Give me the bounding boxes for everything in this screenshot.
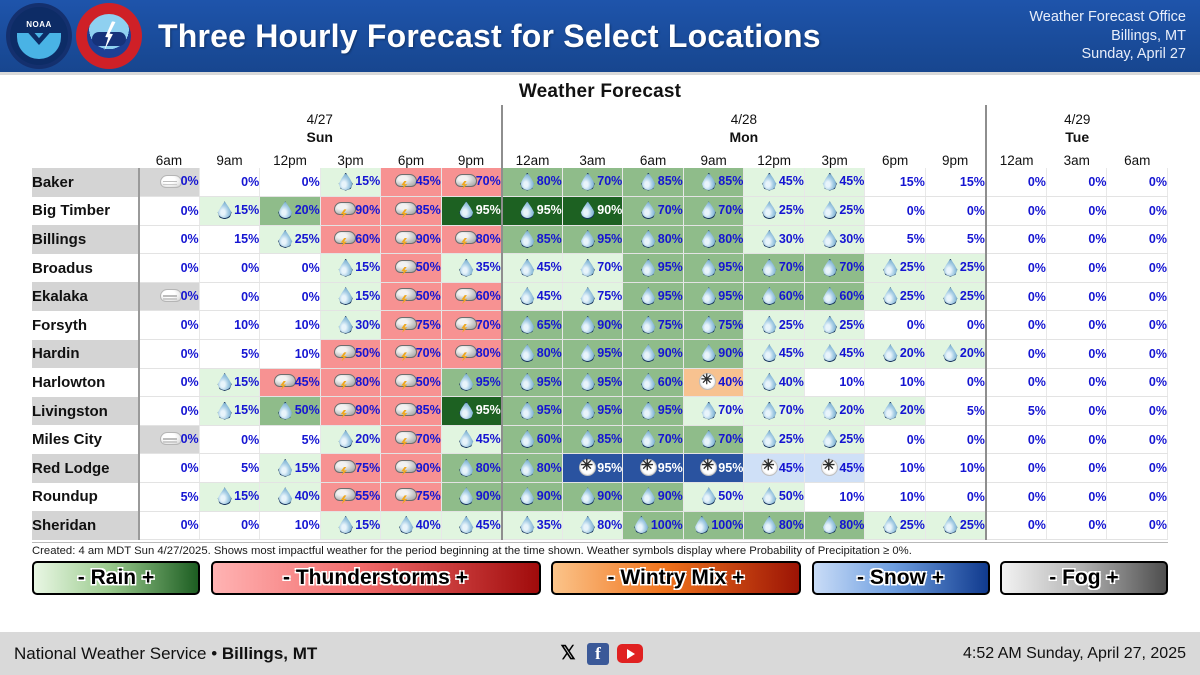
forecast-cell: 45% bbox=[381, 168, 442, 197]
precip-probability: 95% bbox=[718, 461, 743, 475]
forecast-cell: 60% bbox=[502, 425, 563, 454]
precip-probability: 0% bbox=[181, 375, 199, 389]
location-label: Sheridan bbox=[32, 511, 139, 540]
forecast-cell: 0% bbox=[925, 368, 986, 397]
rain-icon bbox=[274, 402, 294, 419]
forecast-cell: 85% bbox=[381, 197, 442, 226]
precip-probability: 0% bbox=[1149, 175, 1167, 189]
precip-probability: 85% bbox=[416, 403, 441, 417]
precip-probability: 75% bbox=[355, 461, 380, 475]
precip-probability: 50% bbox=[718, 489, 743, 503]
precip-probability: 45% bbox=[295, 375, 320, 389]
forecast-cell: 25% bbox=[865, 254, 926, 283]
table-row: Red Lodge0%5%15%75%90%80%80%95%95%95%45%… bbox=[32, 454, 1168, 483]
rain-icon bbox=[818, 287, 838, 304]
precip-probability: 95% bbox=[658, 461, 683, 475]
rain-icon bbox=[758, 316, 778, 333]
location-label: Baker bbox=[32, 168, 139, 197]
rain-icon bbox=[274, 201, 294, 218]
forecast-cell: 0% bbox=[986, 282, 1047, 311]
precip-probability: 20% bbox=[960, 346, 985, 360]
precip-probability: 80% bbox=[597, 518, 622, 532]
forecast-cell: 25% bbox=[744, 425, 805, 454]
precip-probability: 90% bbox=[597, 489, 622, 503]
precip-probability: 25% bbox=[839, 432, 864, 446]
snow-icon bbox=[758, 459, 778, 476]
precip-probability: 95% bbox=[597, 403, 622, 417]
forecast-cell: 0% bbox=[1107, 311, 1168, 340]
precip-probability: 0% bbox=[1028, 232, 1046, 246]
rain-icon bbox=[939, 259, 959, 276]
forecast-cell: 0% bbox=[1107, 397, 1168, 426]
date-header-row: 4/274/284/29 bbox=[32, 105, 1168, 127]
precip-probability: 40% bbox=[718, 375, 743, 389]
location-label: Big Timber bbox=[32, 197, 139, 226]
forecast-note: Created: 4 am MDT Sun 4/27/2025. Shows m… bbox=[32, 542, 1168, 557]
forecast-cell: 45% bbox=[441, 511, 502, 540]
rain-icon bbox=[334, 287, 354, 304]
precip-probability: 85% bbox=[658, 174, 683, 188]
rain-icon bbox=[637, 487, 657, 504]
forecast-cell: 0% bbox=[1046, 425, 1107, 454]
precip-probability: 0% bbox=[1088, 433, 1106, 447]
precip-probability: 90% bbox=[718, 346, 743, 360]
rain-icon bbox=[516, 287, 536, 304]
hour-label: 9am bbox=[683, 147, 744, 168]
forecast-cell: 85% bbox=[623, 168, 684, 197]
forecast-cell: 0% bbox=[986, 483, 1047, 512]
forecast-cell: 0% bbox=[986, 511, 1047, 540]
hour-label: 6am bbox=[1107, 147, 1168, 168]
rain-icon bbox=[637, 287, 657, 304]
hour-label: 6pm bbox=[381, 147, 442, 168]
tstorm-icon bbox=[395, 459, 415, 476]
table-row: Livingston0%15%50%90%85%95%95%95%95%70%7… bbox=[32, 397, 1168, 426]
tstorm-icon bbox=[395, 487, 415, 504]
precip-probability: 0% bbox=[1088, 318, 1106, 332]
forecast-cell: 0% bbox=[139, 311, 200, 340]
precip-probability: 50% bbox=[416, 289, 441, 303]
forecast-cell: 0% bbox=[986, 454, 1047, 483]
rain-icon bbox=[818, 173, 838, 190]
hour-label: 3pm bbox=[320, 147, 381, 168]
forecast-cell: 0% bbox=[199, 282, 260, 311]
rain-icon bbox=[455, 459, 475, 476]
precip-probability: 15% bbox=[234, 232, 259, 246]
precip-probability: 15% bbox=[234, 203, 259, 217]
location-label: Red Lodge bbox=[32, 454, 139, 483]
rain-icon bbox=[576, 430, 596, 447]
precip-probability: 0% bbox=[181, 318, 199, 332]
rain-icon bbox=[516, 316, 536, 333]
forecast-cell: 95% bbox=[623, 397, 684, 426]
forecast-cell: 25% bbox=[925, 254, 986, 283]
rain-icon bbox=[758, 402, 778, 419]
rain-icon bbox=[697, 316, 717, 333]
rain-icon bbox=[637, 173, 657, 190]
precip-probability: 35% bbox=[537, 518, 562, 532]
tstorm-icon bbox=[334, 402, 354, 419]
date-label: 4/28 bbox=[502, 105, 986, 127]
forecast-cell: 5% bbox=[925, 397, 986, 426]
legend-item-thunderstorms[interactable]: - Thunderstorms + bbox=[211, 561, 541, 595]
tstorm-icon bbox=[395, 373, 415, 390]
forecast-cell: 0% bbox=[1046, 311, 1107, 340]
rain-icon bbox=[637, 316, 657, 333]
forecast-cell: 0% bbox=[1046, 454, 1107, 483]
table-row: Harlowton0%15%45%80%50%95%95%95%60%40%40… bbox=[32, 368, 1168, 397]
forecast-cell: 10% bbox=[865, 483, 926, 512]
forecast-cell: 15% bbox=[320, 168, 381, 197]
location-label: Ekalaka bbox=[32, 282, 139, 311]
forecast-cell: 80% bbox=[441, 340, 502, 369]
precip-probability: 0% bbox=[1028, 347, 1046, 361]
forecast-cell: 0% bbox=[986, 168, 1047, 197]
forecast-cell: 95% bbox=[502, 368, 563, 397]
precip-probability: 10% bbox=[234, 318, 259, 332]
forecast-cell: 25% bbox=[804, 311, 865, 340]
precip-probability: 70% bbox=[718, 432, 743, 446]
forecast-cell: 15% bbox=[260, 454, 321, 483]
rain-icon bbox=[576, 316, 596, 333]
precip-probability: 85% bbox=[416, 203, 441, 217]
rain-icon bbox=[455, 487, 475, 504]
forecast-cell: 0% bbox=[1046, 282, 1107, 311]
forecast-cell: 80% bbox=[502, 454, 563, 483]
forecast-cell: 25% bbox=[865, 282, 926, 311]
forecast-cell: 25% bbox=[925, 282, 986, 311]
table-row: Billings0%15%25%60%90%80%85%95%80%80%30%… bbox=[32, 225, 1168, 254]
table-row: Hardin0%5%10%50%70%80%80%95%90%90%45%45%… bbox=[32, 340, 1168, 369]
forecast-cell: 95% bbox=[502, 197, 563, 226]
snow-icon bbox=[576, 459, 596, 476]
rain-icon bbox=[758, 201, 778, 218]
precip-probability: 10% bbox=[839, 375, 864, 389]
forecast-cell: 15% bbox=[320, 254, 381, 283]
forecast-cell: 10% bbox=[260, 311, 321, 340]
nws-logo-icon bbox=[76, 3, 142, 69]
forecast-cell: 70% bbox=[744, 397, 805, 426]
forecast-cell: 80% bbox=[562, 511, 623, 540]
rain-icon bbox=[758, 230, 778, 247]
precip-probability: 0% bbox=[967, 433, 985, 447]
precip-probability: 0% bbox=[1028, 204, 1046, 218]
rain-icon bbox=[630, 516, 650, 533]
precip-probability: 85% bbox=[718, 174, 743, 188]
precip-probability: 70% bbox=[597, 260, 622, 274]
forecast-cell: 30% bbox=[804, 225, 865, 254]
tstorm-icon bbox=[455, 230, 475, 247]
precip-probability: 70% bbox=[718, 203, 743, 217]
forecast-cell: 0% bbox=[139, 197, 200, 226]
rain-icon bbox=[213, 487, 233, 504]
hour-label: 6pm bbox=[865, 147, 926, 168]
precip-probability: 25% bbox=[960, 518, 985, 532]
forecast-cell: 70% bbox=[623, 197, 684, 226]
precip-probability: 45% bbox=[476, 518, 501, 532]
rain-icon bbox=[758, 373, 778, 390]
rain-icon bbox=[395, 516, 415, 533]
rain-icon bbox=[334, 259, 354, 276]
day-label: Mon bbox=[502, 127, 986, 147]
forecast-cell: 75% bbox=[683, 311, 744, 340]
forecast-cell: 95% bbox=[562, 340, 623, 369]
precip-probability: 0% bbox=[302, 175, 320, 189]
footer-timestamp: 4:52 AM Sunday, April 27, 2025 bbox=[963, 645, 1186, 663]
rain-icon bbox=[213, 373, 233, 390]
precip-probability: 0% bbox=[241, 518, 259, 532]
rain-icon bbox=[879, 402, 899, 419]
rain-icon bbox=[516, 430, 536, 447]
precip-probability: 0% bbox=[241, 433, 259, 447]
forecast-cell: 90% bbox=[320, 197, 381, 226]
forecast-cell: 20% bbox=[320, 425, 381, 454]
precip-probability: 0% bbox=[241, 261, 259, 275]
forecast-cell: 0% bbox=[986, 425, 1047, 454]
precip-probability: 90% bbox=[658, 346, 683, 360]
rain-icon bbox=[516, 230, 536, 247]
rain-icon bbox=[697, 344, 717, 361]
forecast-cell: 75% bbox=[562, 282, 623, 311]
precip-probability: 80% bbox=[718, 232, 743, 246]
precip-probability: 15% bbox=[355, 289, 380, 303]
table-row: Big Timber0%15%20%90%85%95%95%90%70%70%2… bbox=[32, 197, 1168, 226]
hour-label: 12pm bbox=[260, 147, 321, 168]
location-label: Billings bbox=[32, 225, 139, 254]
table-row: Sheridan0%0%10%15%40%45%35%80%100%100%80… bbox=[32, 511, 1168, 540]
forecast-cell: 75% bbox=[623, 311, 684, 340]
forecast-cell: 90% bbox=[381, 225, 442, 254]
forecast-cell: 45% bbox=[804, 340, 865, 369]
precip-probability: 0% bbox=[1028, 290, 1046, 304]
forecast-cell: 0% bbox=[1046, 483, 1107, 512]
forecast-cell: 95% bbox=[441, 368, 502, 397]
tstorm-icon bbox=[455, 344, 475, 361]
precip-probability: 95% bbox=[597, 346, 622, 360]
precip-probability: 0% bbox=[1028, 318, 1046, 332]
rain-icon bbox=[274, 459, 294, 476]
tstorm-icon bbox=[395, 430, 415, 447]
forecast-cell: 15% bbox=[320, 511, 381, 540]
forecast-cell: 0% bbox=[1046, 340, 1107, 369]
hour-header-row: 6am9am12pm3pm6pm9pm12am3am6am9am12pm3pm6… bbox=[32, 147, 1168, 168]
rain-icon bbox=[576, 402, 596, 419]
precip-probability: 40% bbox=[295, 489, 320, 503]
forecast-cell: 0% bbox=[925, 425, 986, 454]
forecast-cell: 20% bbox=[925, 340, 986, 369]
forecast-cell: 80% bbox=[441, 454, 502, 483]
forecast-cell: 85% bbox=[502, 225, 563, 254]
forecast-cell: 90% bbox=[562, 483, 623, 512]
precip-probability: 0% bbox=[967, 375, 985, 389]
precip-probability: 0% bbox=[1028, 490, 1046, 504]
legend-item-rain[interactable]: - Rain + bbox=[32, 561, 200, 595]
rain-icon bbox=[334, 516, 354, 533]
precip-probability: 0% bbox=[1088, 347, 1106, 361]
precip-probability: 0% bbox=[241, 290, 259, 304]
precip-probability: 60% bbox=[355, 232, 380, 246]
hour-label: 12am bbox=[986, 147, 1047, 168]
forecast-cell: 40% bbox=[744, 368, 805, 397]
precip-probability: 0% bbox=[181, 289, 199, 303]
forecast-cell: 15% bbox=[199, 483, 260, 512]
facebook-icon[interactable]: f bbox=[587, 643, 609, 665]
forecast-cell: 0% bbox=[1046, 397, 1107, 426]
precip-probability: 80% bbox=[537, 346, 562, 360]
social-links: 𝕏 f bbox=[557, 643, 643, 665]
precip-probability: 10% bbox=[295, 347, 320, 361]
precip-probability: 75% bbox=[416, 489, 441, 503]
precip-probability: 15% bbox=[295, 461, 320, 475]
precip-probability: 90% bbox=[537, 489, 562, 503]
snow-icon bbox=[637, 459, 657, 476]
precip-probability: 25% bbox=[900, 518, 925, 532]
forecast-cell: 50% bbox=[260, 397, 321, 426]
precip-probability: 50% bbox=[779, 489, 804, 503]
legend-item-fog[interactable]: - Fog + bbox=[1000, 561, 1168, 595]
forecast-cell: 30% bbox=[744, 225, 805, 254]
rain-icon bbox=[576, 516, 596, 533]
precip-probability: 0% bbox=[1149, 290, 1167, 304]
hour-label: 3pm bbox=[804, 147, 865, 168]
forecast-cell: 0% bbox=[1107, 511, 1168, 540]
precip-probability: 10% bbox=[960, 461, 985, 475]
precip-probability: 0% bbox=[1088, 490, 1106, 504]
precip-probability: 5% bbox=[967, 232, 985, 246]
youtube-icon[interactable] bbox=[617, 644, 643, 663]
forecast-cell: 40% bbox=[381, 511, 442, 540]
office-info: Weather Forecast Office Billings, MT Sun… bbox=[1029, 8, 1200, 64]
precip-probability: 95% bbox=[476, 403, 501, 417]
forecast-cell: 0% bbox=[865, 197, 926, 226]
table-row: Forsyth0%10%10%30%75%70%65%90%75%75%25%2… bbox=[32, 311, 1168, 340]
forecast-cell: 95% bbox=[441, 197, 502, 226]
forecast-cell: 10% bbox=[804, 368, 865, 397]
forecast-cell: 0% bbox=[986, 197, 1047, 226]
precip-probability: 45% bbox=[839, 174, 864, 188]
precip-probability: 100% bbox=[651, 518, 683, 532]
rain-icon bbox=[455, 259, 475, 276]
forecast-cell: 0% bbox=[1107, 282, 1168, 311]
forecast-cell: 90% bbox=[562, 197, 623, 226]
forecast-cell: 85% bbox=[381, 397, 442, 426]
forecast-cell: 15% bbox=[865, 168, 926, 197]
precip-probability: 10% bbox=[839, 490, 864, 504]
precip-probability: 0% bbox=[1088, 261, 1106, 275]
precip-probability: 0% bbox=[1088, 404, 1106, 418]
precip-probability: 10% bbox=[295, 318, 320, 332]
forecast-cell: 85% bbox=[683, 168, 744, 197]
forecast-cell: 15% bbox=[320, 282, 381, 311]
forecast-cell: 10% bbox=[925, 454, 986, 483]
forecast-cell: 5% bbox=[199, 340, 260, 369]
precip-probability: 70% bbox=[718, 403, 743, 417]
precip-probability: 0% bbox=[1149, 490, 1167, 504]
precip-probability: 40% bbox=[779, 375, 804, 389]
precip-probability: 0% bbox=[967, 204, 985, 218]
forecast-cell: 55% bbox=[320, 483, 381, 512]
location-label: Livingston bbox=[32, 397, 139, 426]
tstorm-icon bbox=[395, 173, 415, 190]
precip-probability: 95% bbox=[718, 289, 743, 303]
legend-item-wintry[interactable]: - Wintry Mix + bbox=[551, 561, 801, 595]
forecast-cell: 60% bbox=[744, 282, 805, 311]
forecast-cell: 15% bbox=[925, 168, 986, 197]
legend-item-snow[interactable]: - Snow + bbox=[812, 561, 990, 595]
forecast-cell: 95% bbox=[441, 397, 502, 426]
forecast-cell: 0% bbox=[139, 397, 200, 426]
office-location: Billings, MT bbox=[1029, 27, 1186, 46]
forecast-cell: 0% bbox=[865, 311, 926, 340]
precip-probability: 0% bbox=[1028, 433, 1046, 447]
legend: - Rain +- Thunderstorms +- Wintry Mix +-… bbox=[32, 561, 1168, 595]
tstorm-icon bbox=[455, 316, 475, 333]
x-icon[interactable]: 𝕏 bbox=[557, 643, 579, 665]
tstorm-icon bbox=[274, 373, 294, 390]
day-label: Sun bbox=[139, 127, 502, 147]
forecast-cell: 0% bbox=[925, 311, 986, 340]
precip-probability: 30% bbox=[355, 318, 380, 332]
forecast-cell: 25% bbox=[925, 511, 986, 540]
precip-probability: 80% bbox=[537, 174, 562, 188]
forecast-cell: 0% bbox=[199, 168, 260, 197]
forecast-cell: 0% bbox=[1046, 368, 1107, 397]
forecast-cell: 50% bbox=[381, 254, 442, 283]
location-label: Roundup bbox=[32, 483, 139, 512]
forecast-cell: 70% bbox=[623, 425, 684, 454]
forecast-cell: 50% bbox=[683, 483, 744, 512]
forecast-cell: 0% bbox=[139, 454, 200, 483]
forecast-cell: 15% bbox=[199, 368, 260, 397]
precip-probability: 70% bbox=[658, 203, 683, 217]
precip-probability: 5% bbox=[967, 404, 985, 418]
forecast-cell: 70% bbox=[683, 425, 744, 454]
forecast-cell: 60% bbox=[623, 368, 684, 397]
forecast-cell: 80% bbox=[502, 168, 563, 197]
precip-probability: 0% bbox=[1149, 375, 1167, 389]
forecast-cell: 45% bbox=[502, 282, 563, 311]
rain-icon bbox=[455, 373, 475, 390]
footer-agency-name: National Weather Service bbox=[14, 644, 206, 663]
rain-icon bbox=[334, 430, 354, 447]
tstorm-icon bbox=[334, 344, 354, 361]
precip-probability: 50% bbox=[416, 375, 441, 389]
wintry-icon bbox=[697, 373, 717, 390]
tstorm-icon bbox=[395, 402, 415, 419]
precip-probability: 0% bbox=[1149, 461, 1167, 475]
forecast-cell: 40% bbox=[683, 368, 744, 397]
rain-icon bbox=[818, 516, 838, 533]
tstorm-icon bbox=[395, 344, 415, 361]
forecast-cell: 0% bbox=[1107, 225, 1168, 254]
forecast-cell: 90% bbox=[320, 397, 381, 426]
precip-probability: 5% bbox=[241, 461, 259, 475]
hour-label: 12pm bbox=[744, 147, 805, 168]
forecast-cell: 0% bbox=[139, 225, 200, 254]
precip-probability: 70% bbox=[416, 432, 441, 446]
tstorm-icon bbox=[455, 287, 475, 304]
hour-label: 9pm bbox=[441, 147, 502, 168]
rain-icon bbox=[455, 516, 475, 533]
location-label: Broadus bbox=[32, 254, 139, 283]
precip-probability: 0% bbox=[1149, 518, 1167, 532]
tstorm-icon bbox=[395, 259, 415, 276]
rain-icon bbox=[576, 259, 596, 276]
footer-agency: National Weather Service • Billings, MT bbox=[0, 644, 317, 664]
forecast-cell: 70% bbox=[562, 168, 623, 197]
footer-separator: • bbox=[211, 644, 217, 663]
precip-probability: 45% bbox=[537, 289, 562, 303]
